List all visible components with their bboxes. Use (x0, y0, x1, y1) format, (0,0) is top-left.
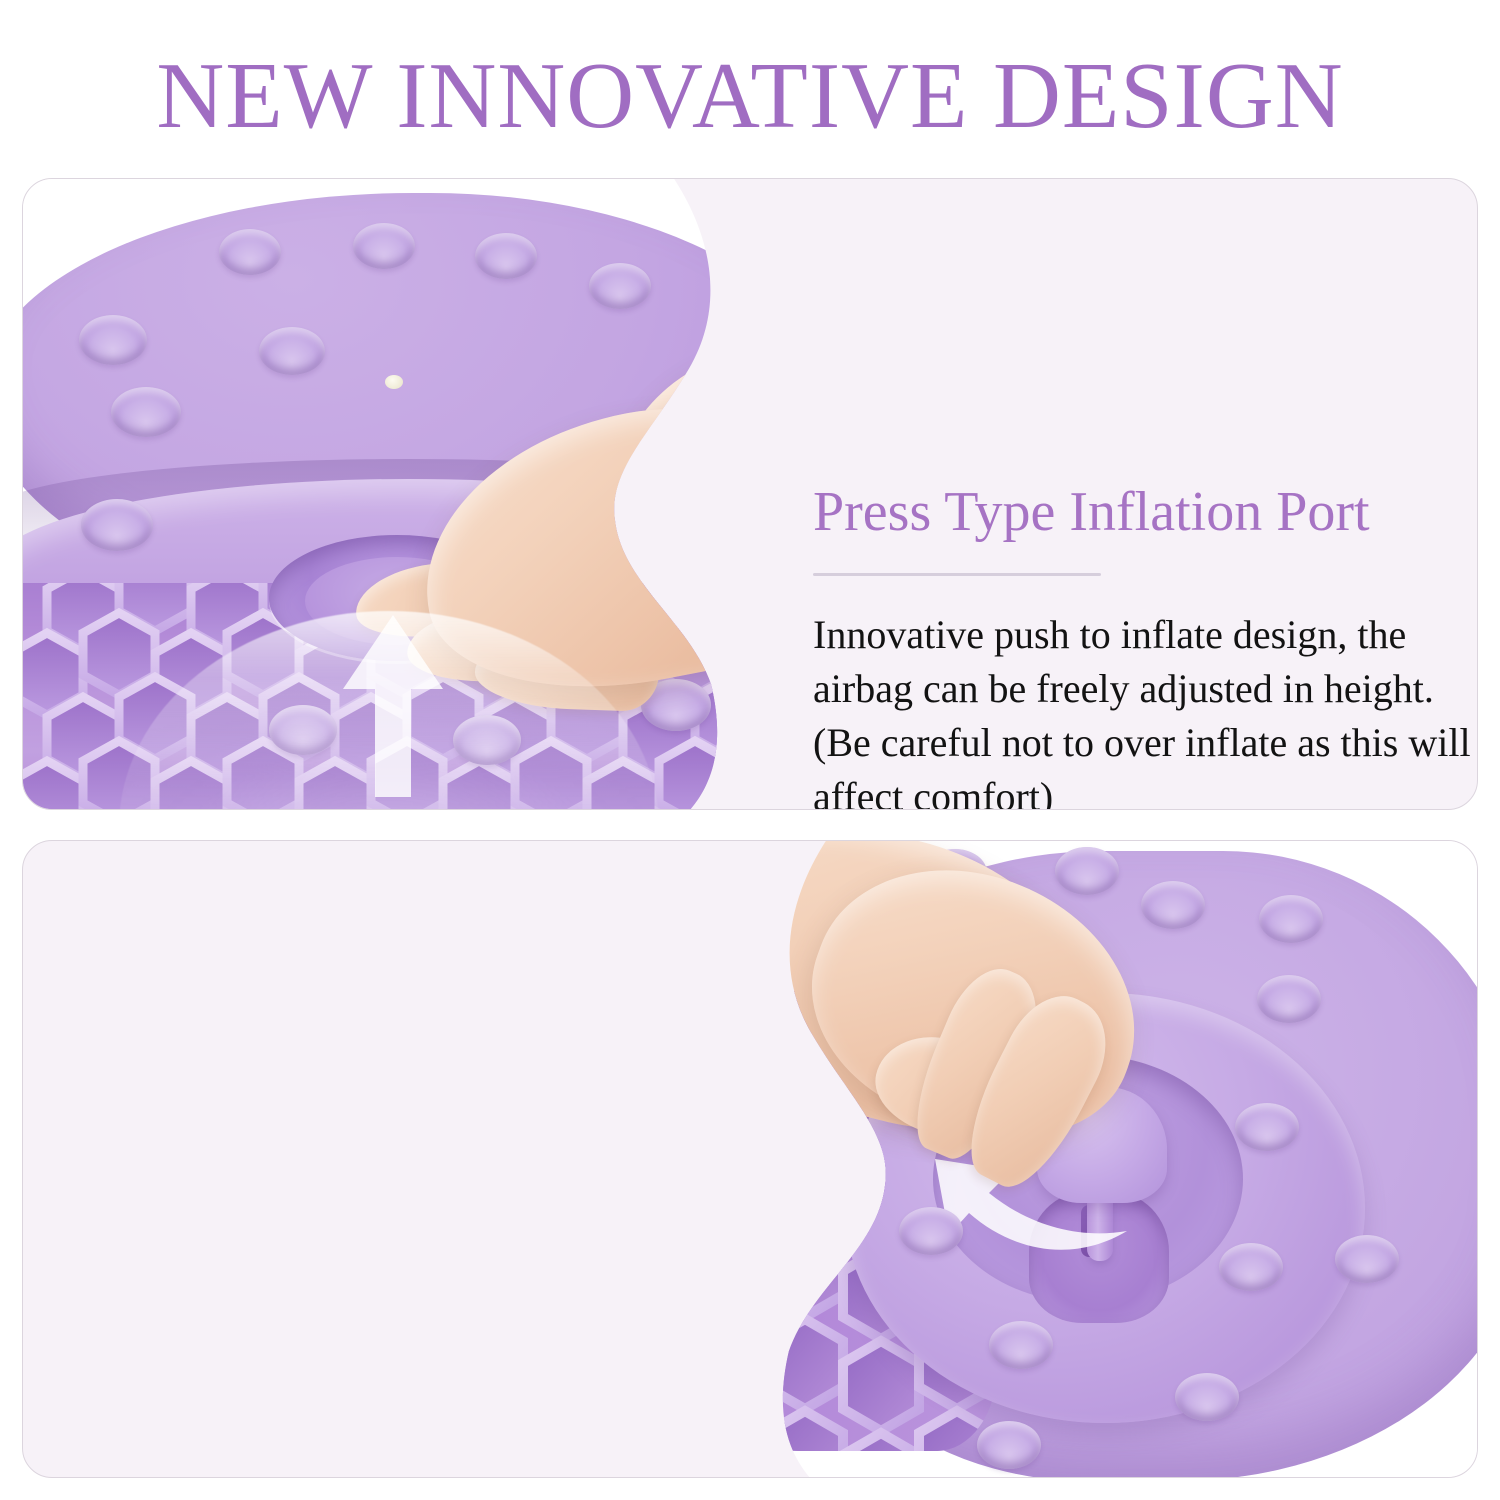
massage-nub (1219, 1243, 1283, 1291)
feature-card-press-type-inflation-port: Press Type Inflation Port Innovative pus… (22, 178, 1478, 810)
massage-nub (475, 233, 537, 279)
massage-nub (1259, 895, 1323, 943)
massage-nub (1257, 975, 1321, 1023)
feature-card-exhaust-port: Exhaust Port If the airbag is inflated t… (22, 840, 1478, 1478)
massage-nub (1335, 1235, 1399, 1283)
vent-dot (385, 375, 403, 389)
massage-nub (589, 263, 651, 309)
massage-nub (1055, 847, 1119, 895)
massage-nub (353, 223, 415, 269)
feature-body: Innovative push to inflate design, the a… (813, 608, 1477, 810)
exhaust-port-scene (737, 841, 1477, 1477)
massage-nub (1141, 881, 1205, 929)
feature-text-inflation-port: Press Type Inflation Port Innovative pus… (813, 479, 1477, 810)
massage-nub (111, 387, 181, 437)
massage-nub (219, 229, 281, 275)
massage-nub (79, 315, 147, 365)
product-photo-inflation-port (23, 179, 763, 809)
massage-nub (81, 499, 153, 551)
heading-divider (813, 573, 1101, 576)
massage-nub (259, 327, 325, 375)
massage-nub (899, 1207, 963, 1255)
feature-heading: Press Type Inflation Port (813, 479, 1477, 545)
photo-wave-mask (737, 841, 1477, 1477)
massage-nub (977, 1421, 1041, 1469)
infographic-page: NEW INNOVATIVE DESIGN (0, 0, 1500, 1500)
massage-nub (1235, 1103, 1299, 1151)
inflation-port-scene (23, 179, 763, 809)
page-title: NEW INNOVATIVE DESIGN (0, 44, 1500, 148)
massage-nub (1175, 1373, 1239, 1421)
massage-nub (989, 1321, 1053, 1369)
inflate-up-arrow-icon (143, 597, 643, 809)
product-photo-exhaust-port (737, 841, 1477, 1477)
photo-wave-mask (23, 179, 763, 809)
